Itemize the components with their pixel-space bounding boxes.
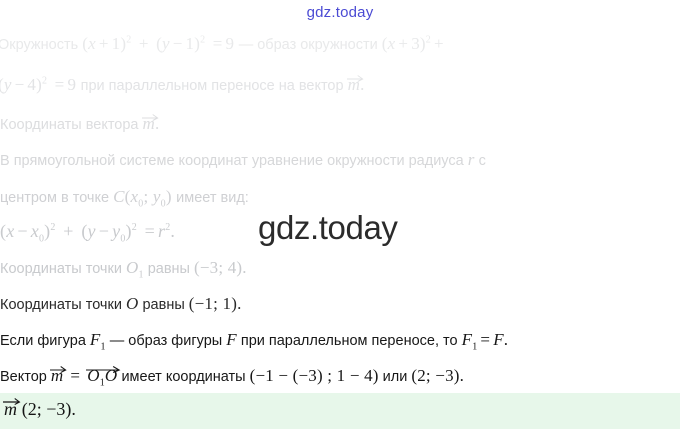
- radius-symbol: r: [468, 150, 475, 169]
- text-line-10: Вектор m = O1O имеет координаты (−1 − (−…: [0, 366, 464, 388]
- text-line-8: Координаты точки O равны (−1; 1).: [0, 295, 242, 313]
- line2-label: при параллельном переносе на вектор: [81, 78, 344, 94]
- center-point-expression: C(x0; y0): [113, 187, 176, 206]
- line10-label-b: имеет координаты: [121, 369, 245, 385]
- text-line-9: Если фигура F1 — образ фигуры F при пара…: [0, 331, 508, 352]
- text-line-5: центром в точке C(x0; y0) имеет вид:: [0, 188, 249, 209]
- text-line-3: Координаты вектора m .: [0, 114, 159, 133]
- vector-m-symbol-3: m: [51, 366, 63, 384]
- line9-label-c: при параллельном переносе, то: [241, 333, 458, 349]
- point-o1-symbol: O1: [126, 258, 144, 277]
- figure-f1-symbol: F1: [90, 330, 106, 349]
- line4-label: В прямоугольной системе координат уравне…: [0, 153, 464, 169]
- text-line-4: В прямоугольной системе координат уравне…: [0, 151, 486, 169]
- answer-highlight-band: [0, 393, 680, 429]
- vector-coordinates-expression: (−1 − (−3) ; 1 − 4): [250, 366, 379, 385]
- answer-value: (2; −3): [22, 399, 72, 419]
- watermark-top: gdz.today: [0, 4, 680, 21]
- solution-page: gdz.today Окружность (x+1)2 + (y−1)2 =9 …: [0, 0, 680, 429]
- vector-m-symbol-answer: m: [4, 398, 17, 420]
- line9-label-b: — образ фигуры: [110, 333, 222, 349]
- equation-circle-source-part2: (y−4)2 =9: [0, 75, 81, 94]
- line3-label: Координаты вектора: [0, 117, 139, 133]
- line4-label-b: с: [479, 153, 486, 169]
- text-line-1: Окружность (x+1)2 + (y−1)2 =9 — образ ок…: [0, 35, 447, 53]
- text-line-2: (y−4)2 =9 при параллельном переносе на в…: [0, 75, 365, 94]
- line9-label: Если фигура: [0, 333, 86, 349]
- vector-m-symbol-2: m: [143, 114, 155, 132]
- watermark-center: gdz.today: [258, 209, 398, 247]
- line7-label: Координаты точки: [0, 261, 122, 277]
- equation-circle-source-part1: (x+3)2+: [382, 34, 447, 53]
- line5-label-b: имеет вид:: [176, 190, 249, 206]
- vector-coordinates-result: (2; −3).: [411, 366, 464, 385]
- line5-label: центром в точке: [0, 190, 109, 206]
- figure-f-symbol: F: [226, 330, 237, 349]
- line10-label-d: или: [383, 369, 408, 385]
- equation-circle-image: (x+1)2 + (y−1)2 =9: [82, 34, 239, 53]
- line7-label-b: равны: [148, 261, 190, 277]
- line8-label-b: равны: [142, 297, 184, 313]
- point-o-coordinates: (−1; 1).: [189, 294, 242, 313]
- equation-circle-general: (x−x0)2 + (y−y0)2 =r2.: [0, 221, 175, 241]
- text-line-7: Координаты точки O1 равны (−3; 4).: [0, 259, 247, 280]
- vector-o1o-symbol: O1O: [87, 366, 117, 388]
- line1-label: Окружность: [0, 37, 78, 53]
- vector-m-symbol: m: [348, 75, 360, 93]
- em-dash: —: [239, 37, 254, 53]
- line10-label: Вектор: [0, 369, 47, 385]
- answer-line: m (2; −3).: [4, 398, 76, 420]
- line1-label-b: образ окружности: [257, 37, 378, 53]
- text-line-6: (x−x0)2 + (y−y0)2 =r2.: [0, 222, 175, 245]
- point-o-symbol: O: [126, 294, 138, 313]
- line8-label: Координаты точки: [0, 297, 122, 313]
- figure-equality: F1=F.: [462, 330, 509, 349]
- point-o1-coordinates: (−3; 4).: [194, 258, 247, 277]
